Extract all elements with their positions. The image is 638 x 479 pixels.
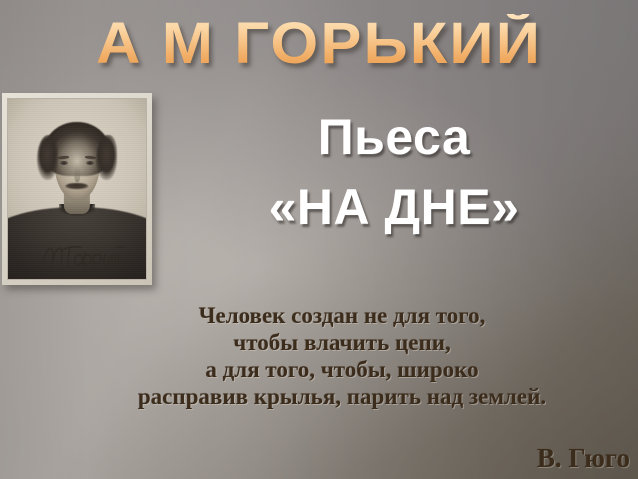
headline-block: Пьеса «НА ДНЕ» — [156, 112, 632, 232]
portrait-eye-right — [86, 161, 93, 165]
headline-play-word: Пьеса — [156, 112, 632, 162]
portrait-signature — [38, 241, 140, 273]
quote-line: чтобы влачить цепи, — [60, 329, 624, 356]
quote-line: расправив крылья, парить над землей. — [60, 383, 624, 410]
portrait-hair-right — [96, 135, 117, 180]
quote-line: Человек создан не для того, — [60, 302, 624, 329]
portrait-nose — [74, 166, 80, 182]
portrait-photo-frame — [2, 93, 152, 285]
portrait-brow-right — [85, 155, 96, 159]
quote-attribution: В. Гюго — [14, 443, 630, 473]
portrait-hair-left — [37, 135, 58, 180]
portrait-photo — [7, 98, 147, 280]
quote-line: а для того, чтобы, широко — [60, 356, 624, 383]
portrait-moustache — [65, 183, 88, 189]
slide-title: А М ГОРЬКИЙ — [0, 14, 638, 75]
headline-play-title: «НА ДНЕ» — [156, 182, 632, 232]
quote-block: Человек создан не для того, чтобы влачит… — [60, 302, 624, 410]
presentation-slide: А М ГОРЬКИЙ — [0, 0, 638, 479]
